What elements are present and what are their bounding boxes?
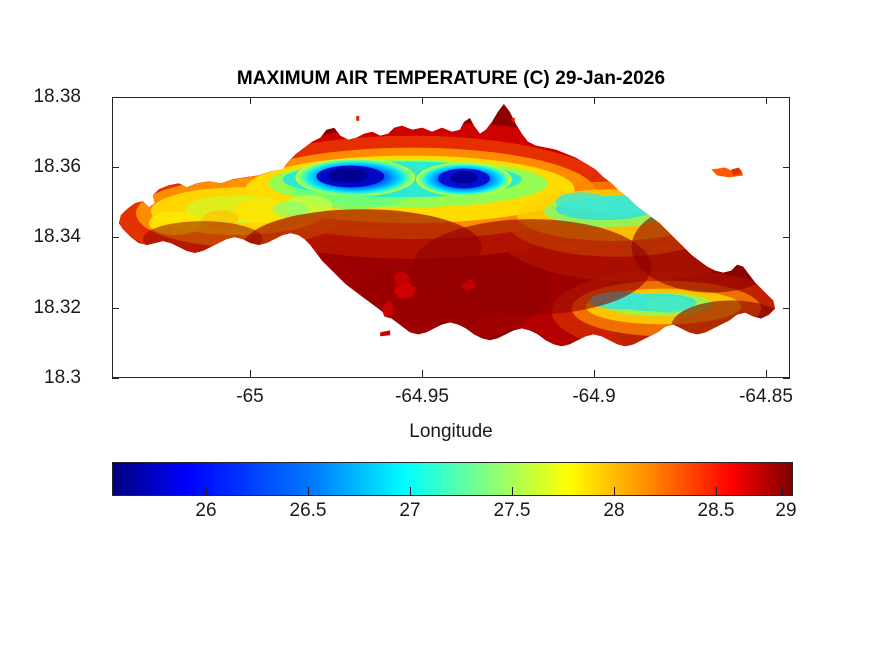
xtick-top-minus64-95 [422, 97, 423, 104]
xtick-label-minus64-95: -64.95 [395, 386, 449, 408]
xtick-minus64-95 [422, 370, 423, 377]
colorbar-label-29: 29 [775, 500, 796, 522]
xtick-label-minus64-85: -64.85 [739, 386, 793, 408]
xtick-label-minus64-9: -64.9 [572, 386, 615, 408]
ytick-right-18-38 [783, 97, 790, 98]
temperature-heatmap [113, 98, 789, 377]
colorbar-tick-29 [782, 487, 783, 495]
colorbar-tick-26-5 [308, 487, 309, 495]
colorbar-label-27: 27 [399, 500, 420, 522]
ytick-18-32 [112, 308, 119, 309]
ytick-label-18-32: 18.32 [33, 297, 81, 319]
map-axes[interactable] [112, 97, 790, 378]
colorbar-label-26-5: 26.5 [290, 500, 327, 522]
xtick-top-minus64-9 [594, 97, 595, 104]
ytick-right-18-30 [783, 378, 790, 379]
colorbar[interactable] [112, 462, 793, 496]
ytick-18-38 [112, 97, 119, 98]
ytick-label-18-34: 18.34 [33, 226, 81, 248]
colorbar-label-28: 28 [603, 500, 624, 522]
colorbar-tick-28-5 [716, 487, 717, 495]
colorbar-tick-28 [614, 487, 615, 495]
colorbar-tick-27-5 [512, 487, 513, 495]
xtick-top-minus65 [250, 97, 251, 104]
xtick-minus65 [250, 370, 251, 377]
colorbar-tick-26 [206, 487, 207, 495]
xtick-top-minus64-85 [766, 97, 767, 104]
xtick-label-minus65: -65 [236, 386, 263, 408]
xtick-minus64-9 [594, 370, 595, 377]
colorbar-label-26: 26 [195, 500, 216, 522]
ytick-18-36 [112, 167, 119, 168]
colorbar-gradient [112, 462, 793, 496]
ytick-label-18-30: 18.3 [44, 367, 81, 389]
ytick-18-30 [112, 378, 119, 379]
colorbar-label-27-5: 27.5 [494, 500, 531, 522]
xtick-minus64-85 [766, 370, 767, 377]
ytick-label-18-36: 18.36 [33, 156, 81, 178]
ytick-label-18-38: 18.38 [33, 86, 81, 108]
x-axis-title: Longitude [112, 421, 790, 443]
page-title: MAXIMUM AIR TEMPERATURE (C) 29-Jan-2026 [112, 68, 790, 90]
ytick-right-18-36 [783, 167, 790, 168]
ytick-right-18-34 [783, 237, 790, 238]
matlab-figure-canvas: MAXIMUM AIR TEMPERATURE (C) 29-Jan-2026 [0, 0, 875, 656]
colorbar-tick-27 [410, 487, 411, 495]
colorbar-label-28-5: 28.5 [698, 500, 735, 522]
ytick-right-18-32 [783, 308, 790, 309]
ytick-18-34 [112, 237, 119, 238]
